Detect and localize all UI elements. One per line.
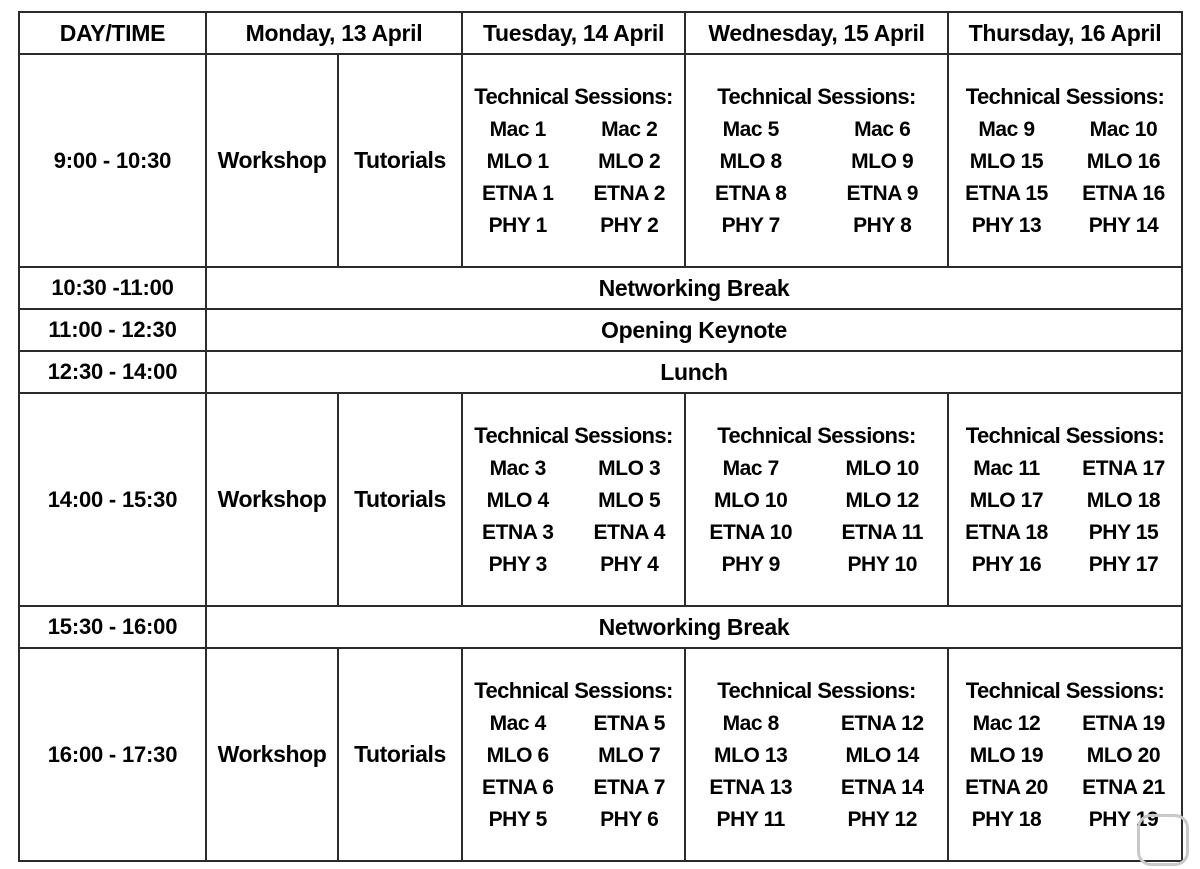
track-tutorials[interactable]: Tutorials [338,54,462,267]
session-item[interactable]: MLO 10 [714,489,787,513]
header-daytime: DAY/TIME [19,12,206,54]
time-label: 9:00 - 10:30 [19,54,206,267]
session-item[interactable]: PHY 2 [600,214,658,238]
session-item[interactable]: Mac 1 [490,118,546,142]
corner-arc-decoration [1137,814,1189,866]
session-item[interactable]: Mac 11 [973,457,1040,481]
session-item[interactable]: MLO 16 [1087,150,1160,174]
session-item[interactable]: MLO 15 [970,150,1043,174]
session-item[interactable]: MLO 17 [970,489,1043,513]
session-item[interactable]: ETNA 14 [841,776,924,800]
session-item[interactable]: MLO 8 [720,150,782,174]
header-wednesday: Wednesday, 15 April [685,12,948,54]
sessions-title: Technical Sessions: [949,84,1181,110]
sessions-title: Technical Sessions: [686,423,947,449]
session-item[interactable]: ETNA 19 [1082,712,1165,736]
track-workshop[interactable]: Workshop [206,54,338,267]
sessions-cell-tuesday-afternoon[interactable]: Technical Sessions: Mac 3 MLO 3 MLO 4 ML… [462,393,685,606]
session-item[interactable]: MLO 1 [487,150,549,174]
session-item[interactable]: PHY 12 [847,808,917,832]
schedule-row-evening: 16:00 - 17:30 Workshop Tutorials Technic… [19,648,1182,861]
sessions-grid: Mac 4 ETNA 5 MLO 6 MLO 7 ETNA 6 ETNA 7 P… [463,712,684,832]
session-item[interactable]: MLO 19 [970,744,1043,768]
sessions-cell-tuesday-morning[interactable]: Technical Sessions: Mac 1 Mac 2 MLO 1 ML… [462,54,685,267]
session-item[interactable]: PHY 9 [722,553,780,577]
sessions-grid: Mac 3 MLO 3 MLO 4 MLO 5 ETNA 3 ETNA 4 PH… [463,457,684,577]
session-item[interactable]: MLO 14 [846,744,919,768]
event-networking-break: Networking Break [206,267,1182,309]
session-item[interactable]: ETNA 21 [1082,776,1165,800]
session-item[interactable]: MLO 10 [846,457,919,481]
sessions-grid: Mac 11 ETNA 17 MLO 17 MLO 18 ETNA 18 PHY… [949,457,1181,577]
session-item[interactable]: MLO 7 [598,744,660,768]
schedule-row-keynote: 11:00 - 12:30 Opening Keynote [19,309,1182,351]
session-item[interactable]: Mac 8 [723,712,779,736]
session-item[interactable]: ETNA 18 [965,521,1048,545]
event-lunch: Lunch [206,351,1182,393]
time-label: 14:00 - 15:30 [19,393,206,606]
session-item[interactable]: Mac 9 [978,118,1034,142]
time-label: 15:30 - 16:00 [19,606,206,648]
sessions-title: Technical Sessions: [463,84,684,110]
sessions-title: Technical Sessions: [686,678,947,704]
session-item[interactable]: MLO 12 [846,489,919,513]
session-item[interactable]: MLO 3 [598,457,660,481]
session-item[interactable]: MLO 18 [1087,489,1160,513]
session-item[interactable]: PHY 13 [972,214,1042,238]
session-item[interactable]: ETNA 6 [482,776,554,800]
session-item[interactable]: PHY 8 [853,214,911,238]
sessions-grid: Mac 9 Mac 10 MLO 15 MLO 16 ETNA 15 ETNA … [949,118,1181,238]
header-thursday: Thursday, 16 April [948,12,1182,54]
schedule-row-morning: 9:00 - 10:30 Workshop Tutorials Technica… [19,54,1182,267]
session-item[interactable]: ETNA 1 [482,182,554,206]
sessions-cell-wednesday-morning[interactable]: Technical Sessions: Mac 5 Mac 6 MLO 8 ML… [685,54,948,267]
time-label: 12:30 - 14:00 [19,351,206,393]
session-item[interactable]: PHY 16 [972,553,1042,577]
table-header-row: DAY/TIME Monday, 13 April Tuesday, 14 Ap… [19,12,1182,54]
session-item[interactable]: ETNA 8 [715,182,787,206]
time-label: 11:00 - 12:30 [19,309,206,351]
session-item[interactable]: PHY 10 [847,553,917,577]
track-workshop[interactable]: Workshop [206,648,338,861]
track-tutorials[interactable]: Tutorials [338,393,462,606]
conference-schedule-table: DAY/TIME Monday, 13 April Tuesday, 14 Ap… [18,11,1183,862]
track-tutorials[interactable]: Tutorials [338,648,462,861]
sessions-title: Technical Sessions: [949,678,1181,704]
session-item[interactable]: PHY 7 [722,214,780,238]
session-item[interactable]: Mac 10 [1090,118,1158,142]
session-item[interactable]: Mac 4 [490,712,546,736]
session-item[interactable]: ETNA 9 [847,182,919,206]
session-item[interactable]: ETNA 17 [1082,457,1165,481]
session-item[interactable]: PHY 14 [1089,214,1159,238]
time-label: 16:00 - 17:30 [19,648,206,861]
header-tuesday: Tuesday, 14 April [462,12,685,54]
sessions-title: Technical Sessions: [686,84,947,110]
header-monday: Monday, 13 April [206,12,462,54]
session-item[interactable]: MLO 6 [487,744,549,768]
sessions-grid: Mac 1 Mac 2 MLO 1 MLO 2 ETNA 1 ETNA 2 PH… [463,118,684,238]
session-item[interactable]: ETNA 16 [1082,182,1165,206]
sessions-grid: Mac 5 Mac 6 MLO 8 MLO 9 ETNA 8 ETNA 9 PH… [686,118,947,238]
session-item[interactable]: MLO 2 [598,150,660,174]
sessions-title: Technical Sessions: [949,423,1181,449]
session-item[interactable]: ETNA 20 [965,776,1048,800]
session-item[interactable]: PHY 5 [489,808,547,832]
schedule-row-afternoon: 14:00 - 15:30 Workshop Tutorials Technic… [19,393,1182,606]
session-item[interactable]: ETNA 2 [594,182,666,206]
session-item[interactable]: ETNA 12 [841,712,924,736]
session-item[interactable]: ETNA 5 [594,712,666,736]
time-label: 10:30 -11:00 [19,267,206,309]
session-item[interactable]: MLO 5 [598,489,660,513]
schedule-container: DAY/TIME Monday, 13 April Tuesday, 14 Ap… [18,11,1181,852]
session-item[interactable]: ETNA 15 [965,182,1048,206]
session-item[interactable]: Mac 12 [973,712,1041,736]
session-item[interactable]: Mac 6 [854,118,910,142]
event-opening-keynote[interactable]: Opening Keynote [206,309,1182,351]
session-item[interactable]: PHY 15 [1089,521,1159,545]
session-item[interactable]: PHY 1 [489,214,547,238]
session-item[interactable]: ETNA 7 [594,776,666,800]
session-item[interactable]: ETNA 3 [482,521,554,545]
sessions-grid: Mac 7 MLO 10 MLO 10 MLO 12 ETNA 10 ETNA … [686,457,947,577]
session-item[interactable]: PHY 11 [717,808,785,832]
session-item[interactable]: PHY 6 [600,808,658,832]
session-item[interactable]: PHY 17 [1089,553,1159,577]
session-item[interactable]: MLO 4 [487,489,549,513]
session-item[interactable]: Mac 2 [601,118,657,142]
sessions-cell-thursday-morning[interactable]: Technical Sessions: Mac 9 Mac 10 MLO 15 … [948,54,1182,267]
schedule-row-break-afternoon: 15:30 - 16:00 Networking Break [19,606,1182,648]
schedule-row-lunch: 12:30 - 14:00 Lunch [19,351,1182,393]
session-item[interactable]: MLO 20 [1087,744,1160,768]
session-item[interactable]: Mac 5 [723,118,779,142]
session-item[interactable]: Mac 7 [723,457,779,481]
session-item[interactable]: MLO 13 [714,744,787,768]
sessions-cell-thursday-afternoon[interactable]: Technical Sessions: Mac 11 ETNA 17 MLO 1… [948,393,1182,606]
sessions-title: Technical Sessions: [463,423,684,449]
session-item[interactable]: ETNA 11 [841,521,923,545]
sessions-cell-tuesday-evening[interactable]: Technical Sessions: Mac 4 ETNA 5 MLO 6 M… [462,648,685,861]
sessions-grid: Mac 8 ETNA 12 MLO 13 MLO 14 ETNA 13 ETNA… [686,712,947,832]
session-item[interactable]: PHY 3 [489,553,547,577]
session-item[interactable]: MLO 9 [851,150,913,174]
session-item[interactable]: Mac 3 [490,457,546,481]
sessions-grid: Mac 12 ETNA 19 MLO 19 MLO 20 ETNA 20 ETN… [949,712,1181,832]
session-item[interactable]: PHY 4 [600,553,658,577]
session-item[interactable]: PHY 18 [972,808,1042,832]
session-item[interactable]: ETNA 4 [594,521,666,545]
sessions-title: Technical Sessions: [463,678,684,704]
sessions-cell-wednesday-afternoon[interactable]: Technical Sessions: Mac 7 MLO 10 MLO 10 … [685,393,948,606]
event-networking-break: Networking Break [206,606,1182,648]
track-workshop[interactable]: Workshop [206,393,338,606]
schedule-row-break-morning: 10:30 -11:00 Networking Break [19,267,1182,309]
session-item[interactable]: ETNA 10 [709,521,792,545]
session-item[interactable]: ETNA 13 [709,776,792,800]
sessions-cell-wednesday-evening[interactable]: Technical Sessions: Mac 8 ETNA 12 MLO 13… [685,648,948,861]
